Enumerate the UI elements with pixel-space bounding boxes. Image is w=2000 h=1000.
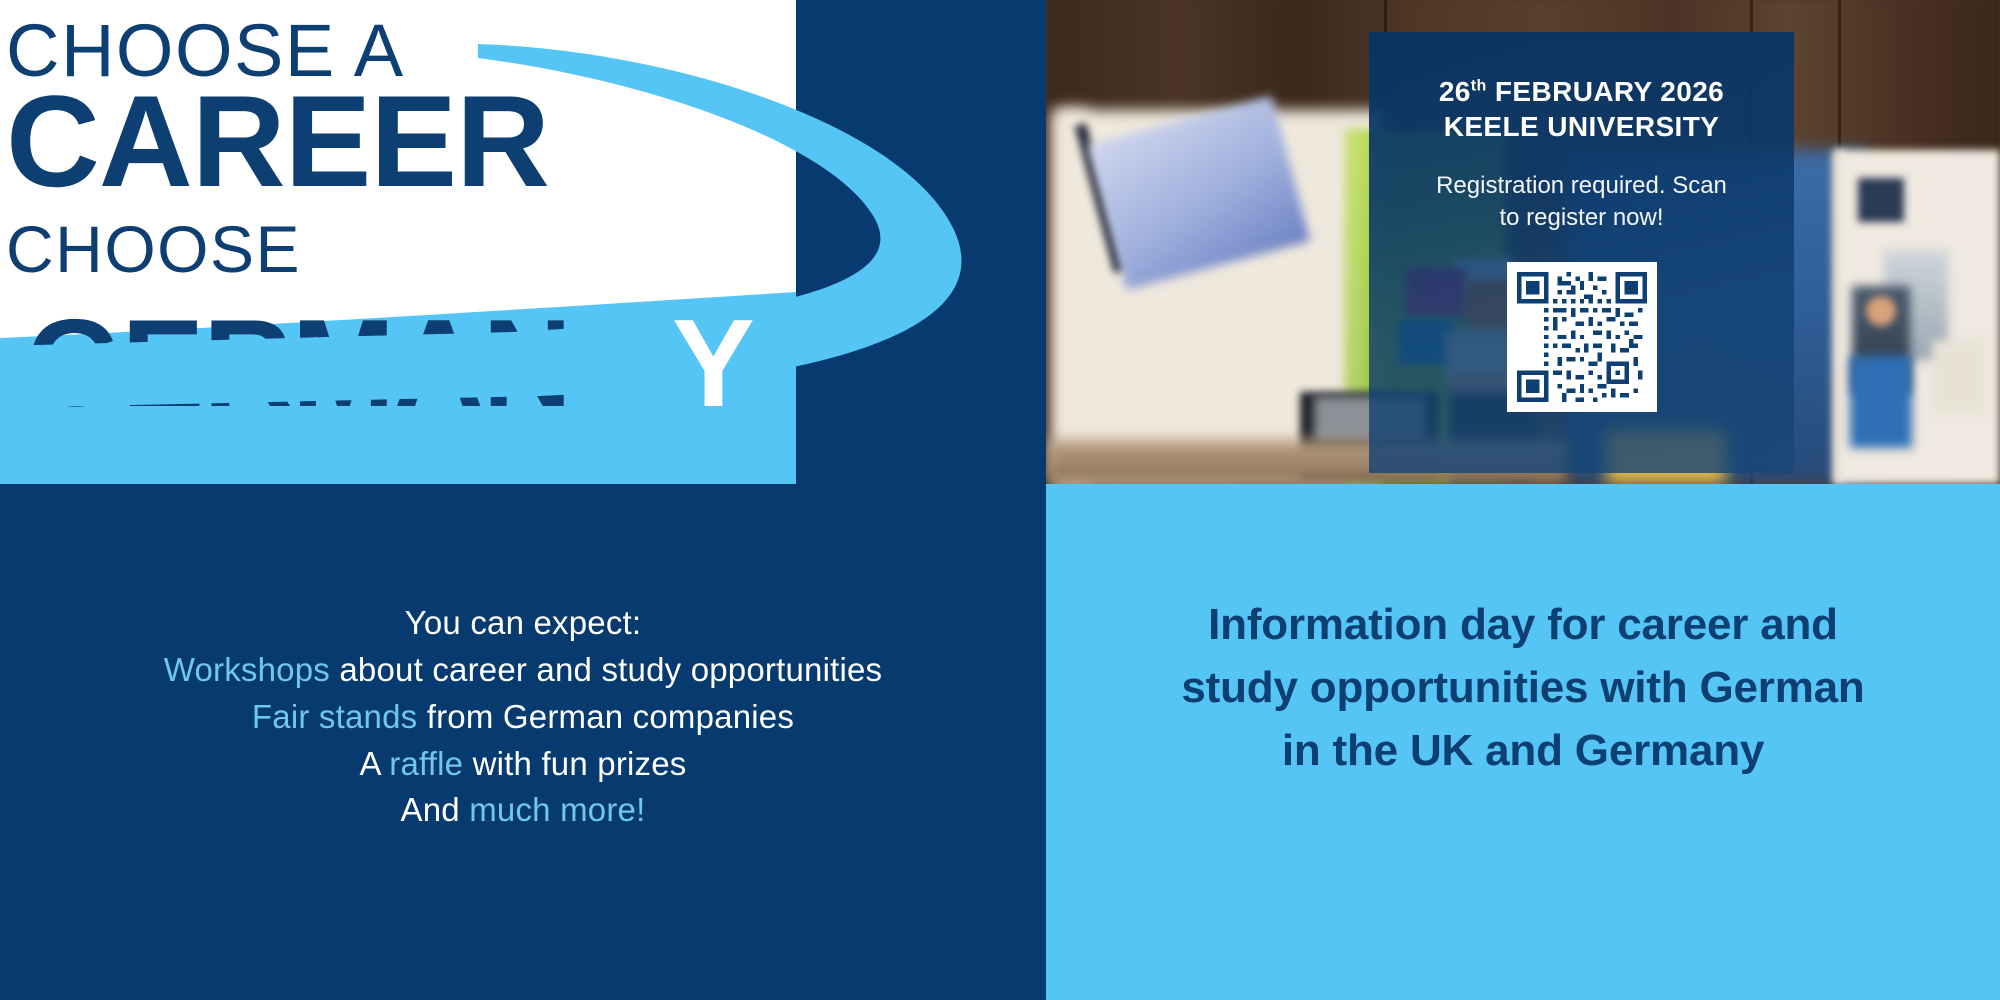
expect-highlight-workshops: Workshops (164, 651, 330, 688)
svg-text:CAREER: CAREER (6, 68, 549, 214)
event-date: 26th FEBRUARY 2026 (1399, 74, 1764, 109)
event-date-day: 26 (1439, 76, 1471, 107)
logo-wordmark: CHOOSE A CAREER CHOOSE GERMAN (0, 0, 796, 484)
tagline: Information day for career and study opp… (1046, 594, 2000, 783)
logo-card: CHOOSE A CAREER CHOOSE GERMAN (0, 0, 796, 484)
tagline-line-2: study opportunities with German (1046, 657, 2000, 720)
expect-rest-fair-stands: from German companies (417, 698, 794, 735)
expect-heading: You can expect: (0, 600, 1046, 647)
right-poster-backpack (1850, 356, 1912, 448)
expect-highlight-much-more: much more! (469, 791, 645, 828)
expect-prefix-raffle: A (359, 745, 389, 782)
qr-code-icon[interactable] (1517, 272, 1647, 402)
event-photo: 26th FEBRUARY 2026 KEELE UNIVERSITY Regi… (1046, 0, 2000, 484)
left-column: CHOOSE A CAREER CHOOSE GERMAN Y You can … (0, 0, 1046, 1000)
expect-item-workshops: Workshops about career and study opportu… (0, 647, 1046, 694)
expect-highlight-fair-stands: Fair stands (252, 698, 417, 735)
expect-item-much-more: And much more! (0, 787, 1046, 834)
registration-note: Registration required. Scan to register … (1399, 170, 1764, 234)
qr-code-container[interactable] (1507, 262, 1657, 412)
tagline-line-3: in the UK and Germany (1046, 720, 2000, 783)
expect-highlight-raffle: raffle (389, 745, 463, 782)
svg-text:CHOOSE: CHOOSE (6, 212, 301, 286)
promo-poster: CHOOSE A CAREER CHOOSE GERMAN Y You can … (0, 0, 2000, 1000)
expect-rest-workshops: about career and study opportunities (330, 651, 882, 688)
expect-prefix-much-more: And (401, 791, 470, 828)
event-info-card: 26th FEBRUARY 2026 KEELE UNIVERSITY Regi… (1369, 32, 1794, 473)
event-date-month-year: FEBRUARY 2026 (1495, 76, 1724, 107)
expect-rest-raffle: with fun prizes (463, 745, 686, 782)
tagline-line-1: Information day for career and (1046, 594, 2000, 657)
registration-note-line1: Registration required. Scan (1399, 170, 1764, 202)
expectations-block: You can expect: Workshops about career a… (0, 600, 1046, 834)
registration-note-line2: to register now! (1399, 202, 1764, 234)
expect-item-raffle: A raffle with fun prizes (0, 741, 1046, 788)
tagline-panel: Information day for career and study opp… (1046, 484, 2000, 1000)
event-venue: KEELE UNIVERSITY (1399, 109, 1764, 144)
right-poster-tote (1932, 340, 1984, 412)
right-poster-person-head (1866, 296, 1896, 326)
expect-item-fair-stands: Fair stands from German companies (0, 694, 1046, 741)
right-column: 26th FEBRUARY 2026 KEELE UNIVERSITY Regi… (1046, 0, 2000, 1000)
event-date-ordinal: th (1471, 78, 1487, 95)
right-poster-photo (1858, 178, 1904, 222)
svg-text:GERMAN: GERMAN (26, 295, 571, 433)
